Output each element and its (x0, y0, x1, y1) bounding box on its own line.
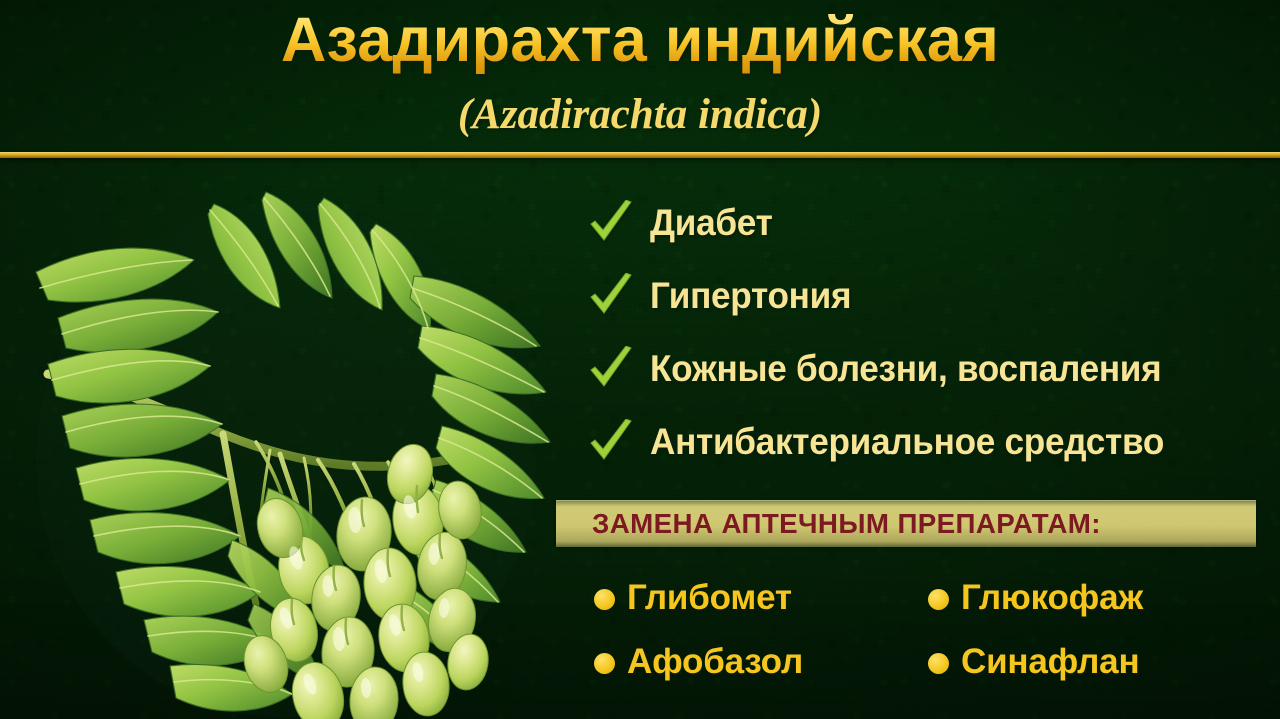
drug-name: Глюкофаж (961, 572, 1143, 624)
benefit-item-gipertoniya: Гипертония (588, 265, 1264, 338)
benefit-label: Антибактериальное средство (650, 411, 1164, 473)
header-divider-line (0, 152, 1280, 158)
drug-row: Глибомет Глюкофаж (594, 572, 1254, 636)
neem-plant-illustration (18, 168, 563, 719)
checkmark-icon (588, 273, 634, 321)
benefit-item-diabet: Диабет (588, 192, 1264, 265)
bullet-dot-icon (594, 653, 615, 674)
drug-name: Синафлан (961, 636, 1139, 688)
benefit-item-kozhnye-bolezni: Кожные болезни, воспаления (588, 338, 1264, 411)
drug-name: Глибомет (627, 572, 792, 624)
benefits-list: Диабет Гипертония Кожные болезни, воспал… (588, 192, 1264, 484)
benefit-item-antibakterialnoe: Антибактериальное средство (588, 411, 1264, 484)
benefit-label: Диабет (650, 192, 773, 254)
poster-header: Азадирахта индийская (Azadirachta indica… (0, 0, 1280, 155)
drug-row: Афобазол Синафлан (594, 636, 1254, 700)
bullet-dot-icon (928, 653, 949, 674)
benefit-label: Гипертония (650, 265, 851, 327)
page-title: Азадирахта индийская (0, 6, 1280, 74)
bullet-dot-icon (928, 589, 949, 610)
replacement-heading: ЗАМЕНА АПТЕЧНЫМ ПРЕПАРАТАМ: (592, 504, 1265, 544)
checkmark-icon (588, 200, 634, 248)
bullet-dot-icon (594, 589, 615, 610)
drug-name: Афобазол (627, 636, 803, 688)
benefit-label: Кожные болезни, воспаления (650, 338, 1161, 400)
replacement-drug-list: Глибомет Глюкофаж Афобазол Синафлан (594, 572, 1254, 700)
checkmark-icon (588, 419, 634, 467)
infographic-poster: Азадирахта индийская (Azadirachta indica… (0, 0, 1280, 719)
checkmark-icon (588, 346, 634, 394)
latin-subtitle: (Azadirachta indica) (0, 90, 1280, 139)
